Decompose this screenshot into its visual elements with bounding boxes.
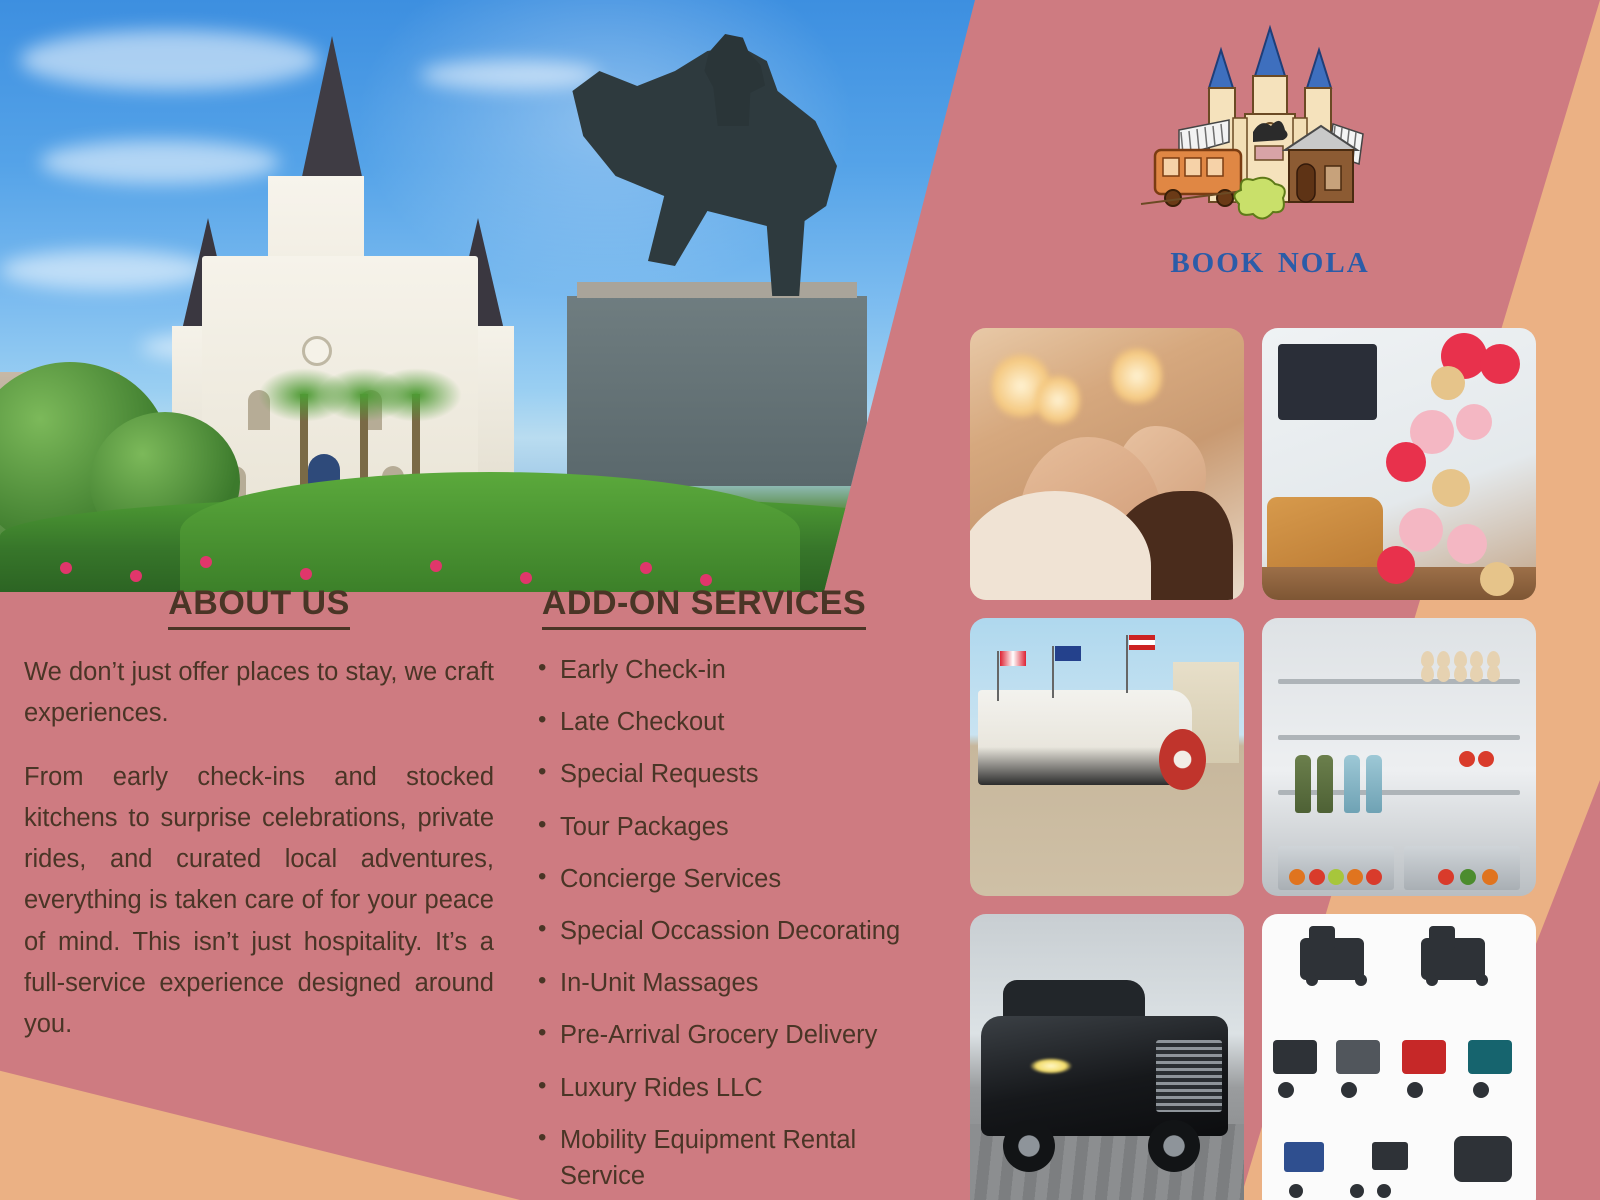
cloud [20, 30, 320, 90]
photo-luxury-suv [970, 914, 1244, 1200]
about-paragraph-2: From early check-ins and stocked kitchen… [24, 757, 494, 1046]
hero-image-jackson-square [0, 0, 975, 592]
statue-pedestal [567, 296, 867, 486]
andrew-jackson-statue [487, 26, 867, 486]
add-on-services-title: ADD-ON SERVICES [542, 584, 866, 630]
text-content: ABOUT US We don’t just offer places to s… [0, 584, 940, 1200]
brochure-page: BOOK NOLA [0, 0, 1600, 1200]
service-item: Tour Packages [560, 809, 914, 845]
add-on-services-column: ADD-ON SERVICES Early Check-in Late Chec… [494, 584, 914, 1200]
book-nola-landmark-icon [1125, 14, 1415, 244]
logo: BOOK NOLA [1125, 14, 1415, 304]
service-item: Luxury Rides LLC [560, 1070, 914, 1106]
service-item: Concierge Services [560, 861, 914, 897]
service-item: Mobility Equipment Rental Service [560, 1122, 914, 1194]
service-item: In-Unit Massages [560, 965, 914, 1001]
service-item: Pre-Arrival Grocery Delivery [560, 1017, 914, 1053]
photo-balloons [1262, 328, 1536, 600]
service-item: Special Occassion Decorating [560, 913, 914, 949]
cathedral-spire-center [300, 36, 364, 186]
about-us-title: ABOUT US [168, 584, 350, 630]
service-item: Late Checkout [560, 704, 914, 740]
pedestal-cap [577, 282, 857, 298]
rearing-horse [567, 46, 837, 296]
about-us-column: ABOUT US We don’t just offer places to s… [24, 584, 494, 1068]
photo-massage [970, 328, 1244, 600]
about-paragraph-1: We don’t just offer places to stay, we c… [24, 652, 494, 735]
service-item: Special Requests [560, 756, 914, 792]
photo-stocked-fridge [1262, 618, 1536, 896]
services-list: Early Check-in Late Checkout Special Req… [494, 652, 914, 1194]
photo-mobility-equipment [1262, 914, 1536, 1200]
logo-wordmark: BOOK NOLA [1125, 238, 1415, 280]
cathedral-clock [302, 336, 332, 366]
service-item: Early Check-in [560, 652, 914, 688]
photo-gallery [970, 328, 1536, 1196]
photo-steamboat [970, 618, 1244, 896]
